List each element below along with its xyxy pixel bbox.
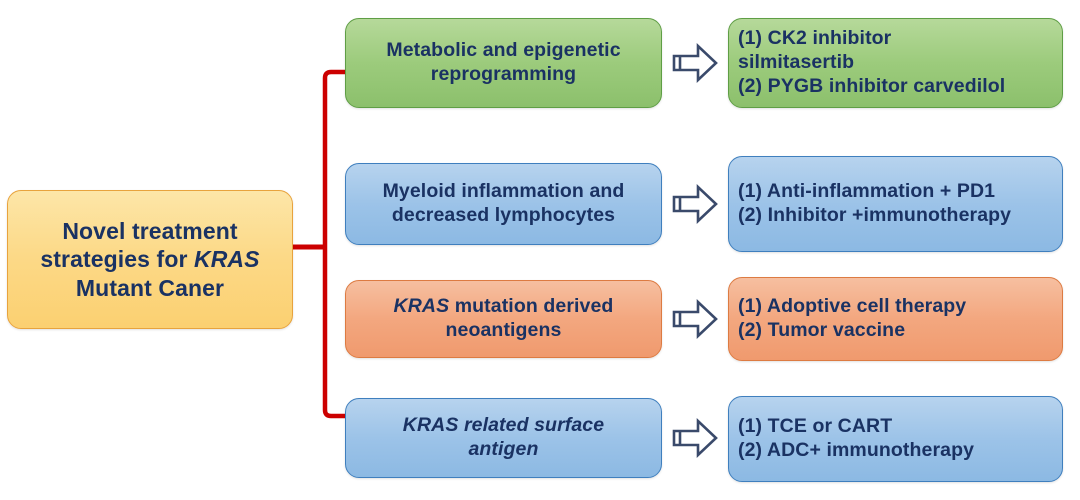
treatment-box-2-item-2: (2) Inhibitor +immunotherapy (738, 204, 1053, 228)
category-box-4-kras-related-surface-antigen[interactable]: KRAS related surface antigen (345, 398, 662, 478)
block-arrow-right-icon (672, 41, 718, 85)
treatment-box-2-item-1: (1) Anti-inflammation + PD1 (738, 180, 1053, 204)
root-node-gene-emphasis: KRAS (194, 246, 260, 272)
treatment-box-3-item-2: (2) Tumor vaccine (738, 319, 1053, 343)
category-box-1-line-2: reprogramming (358, 63, 649, 87)
category-box-4-line-1: KRAS related surface (358, 414, 649, 438)
category-box-4-line-2: antigen (358, 438, 649, 462)
treatment-box-3[interactable]: (1) Adoptive cell therapy (2) Tumor vacc… (728, 277, 1063, 361)
treatment-box-2[interactable]: (1) Anti-inflammation + PD1 (2) Inhibito… (728, 156, 1063, 252)
root-node-line-2: strategies for KRAS (22, 245, 278, 273)
treatment-box-1-item-1-cont: silmitasertib (738, 51, 1053, 75)
treatment-box-1-item-1: (1) CK2 inhibitor (738, 27, 1053, 51)
category-box-3-kras-mutation-derived-neoantigens[interactable]: KRAS mutation derived neoantigens (345, 280, 662, 358)
block-arrow-right-icon (672, 297, 718, 341)
category-box-2-line-2: decreased lymphocytes (358, 204, 649, 228)
root-node-novel-treatment-strategies[interactable]: Novel treatment strategies for KRAS Muta… (7, 190, 293, 329)
category-box-3-line-1: KRAS mutation derived (358, 295, 649, 319)
block-arrow-right-icon (672, 416, 718, 460)
treatment-box-4[interactable]: (1) TCE or CART (2) ADC+ immunotherapy (728, 396, 1063, 482)
treatment-box-3-item-1: (1) Adoptive cell therapy (738, 295, 1053, 319)
category-box-2-myeloid-inflammation[interactable]: Myeloid inflammation and decreased lymph… (345, 163, 662, 245)
category-box-3-line-2: neoantigens (358, 319, 649, 343)
category-box-1-metabolic-epigenetic-reprogramming[interactable]: Metabolic and epigenetic reprogramming (345, 18, 662, 108)
treatment-box-4-item-2: (2) ADC+ immunotherapy (738, 439, 1053, 463)
treatment-box-1-item-2: (2) PYGB inhibitor carvedilol (738, 75, 1053, 99)
diagram-canvas: Novel treatment strategies for KRAS Muta… (0, 0, 1080, 500)
root-node-line-3: Mutant Caner (22, 274, 278, 302)
treatment-box-4-item-1: (1) TCE or CART (738, 415, 1053, 439)
category-box-3-gene-emphasis: KRAS (394, 295, 450, 317)
category-box-2-line-1: Myeloid inflammation and (358, 180, 649, 204)
treatment-box-1[interactable]: (1) CK2 inhibitor silmitasertib (2) PYGB… (728, 18, 1063, 108)
root-node-line-1: Novel treatment (22, 217, 278, 245)
block-arrow-right-icon (672, 182, 718, 226)
category-box-1-line-1: Metabolic and epigenetic (358, 39, 649, 63)
